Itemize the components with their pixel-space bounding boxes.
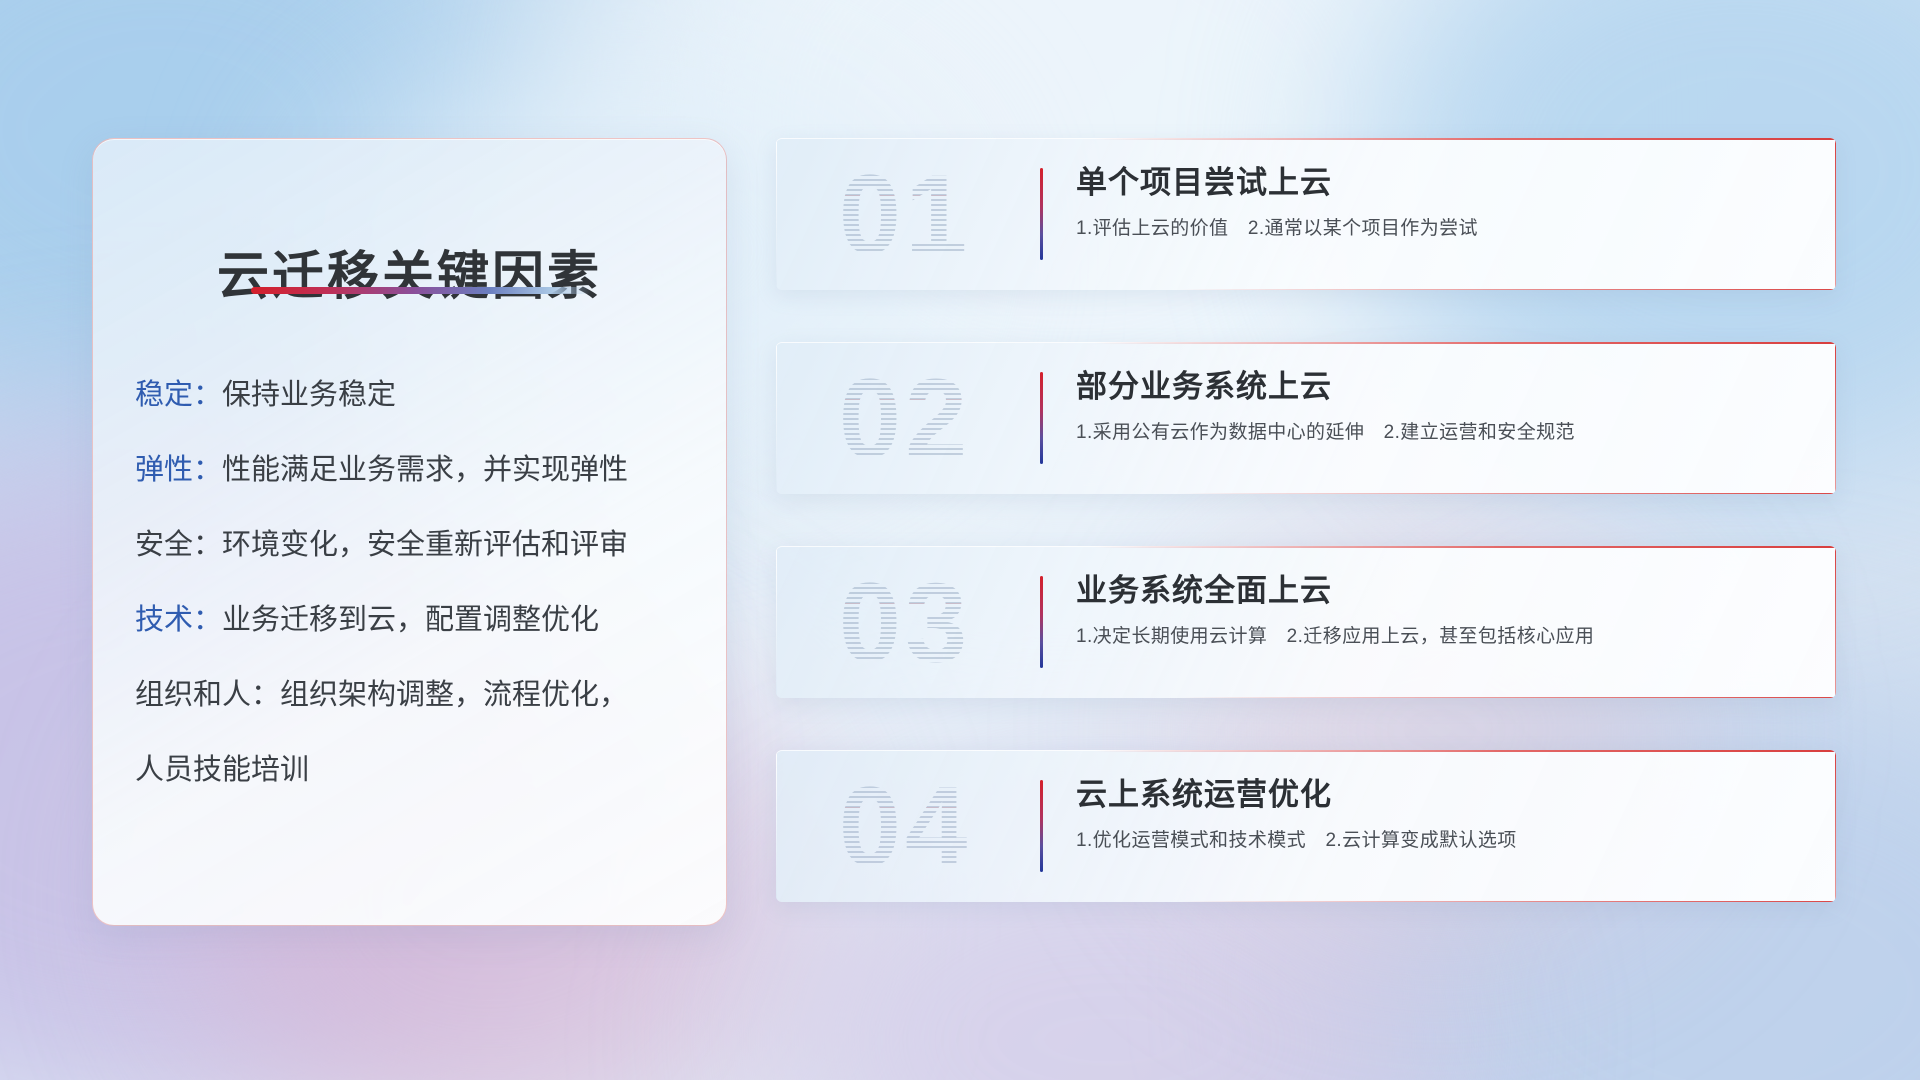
card-title: 单个项目尝试上云	[1076, 164, 1808, 201]
stage-card[interactable]: 01单个项目尝试上云1.评估上云的价值 2.通常以某个项目作为尝试	[776, 138, 1836, 290]
factor-value: 性能满足业务需求，并实现弹性	[222, 454, 628, 486]
card-divider-accent	[1040, 780, 1043, 872]
factor-value: 组织架构调整，流程优化，	[280, 679, 628, 711]
stage-card[interactable]: 03业务系统全面上云1.决定长期使用云计算 2.迁移应用上云，甚至包括核心应用	[776, 546, 1836, 698]
stage-card[interactable]: 04云上系统运营优化1.优化运营模式和技术模式 2.云计算变成默认选项	[776, 750, 1836, 902]
card-accent-border-top	[1094, 342, 1836, 344]
page-title: 云迁移关键因素	[93, 234, 726, 309]
factor-list: 稳定：保持业务稳定弹性：性能满足业务需求，并实现弹性安全：环境变化，安全重新评估…	[135, 381, 698, 785]
card-title: 云上系统运营优化	[1076, 776, 1808, 813]
card-body: 业务系统全面上云1.决定长期使用云计算 2.迁移应用上云，甚至包括核心应用	[1076, 572, 1808, 650]
factor-value: 人员技能培训	[135, 754, 309, 786]
card-body: 部分业务系统上云1.采用公有云作为数据中心的延伸 2.建立运营和安全规范	[1076, 368, 1808, 446]
factor-value: 保持业务稳定	[222, 379, 396, 411]
factor-item: 组织和人：组织架构调整，流程优化，	[135, 681, 698, 710]
card-subtitle: 1.采用公有云作为数据中心的延伸 2.建立运营和安全规范	[1076, 421, 1808, 446]
title-underline-accent	[251, 287, 591, 294]
card-title: 业务系统全面上云	[1076, 572, 1808, 609]
factor-item: 人员技能培训	[135, 756, 698, 785]
card-accent-border-top	[1094, 750, 1836, 752]
factor-item: 弹性：性能满足业务需求，并实现弹性	[135, 456, 698, 485]
card-subtitle: 1.评估上云的价值 2.通常以某个项目作为尝试	[1076, 217, 1808, 242]
card-divider-accent	[1040, 576, 1043, 668]
card-border-left	[776, 342, 777, 494]
factor-label: 稳定：	[135, 379, 222, 411]
card-title: 部分业务系统上云	[1076, 368, 1808, 405]
stage-number-watermark: 01	[800, 138, 1010, 290]
card-divider-accent	[1040, 168, 1043, 260]
card-accent-border-right	[1835, 750, 1837, 902]
card-border-left	[776, 546, 777, 698]
card-accent-border-right	[1835, 546, 1837, 698]
factor-item: 安全：环境变化，安全重新评估和评审	[135, 531, 698, 560]
factor-label: 组织和人：	[135, 679, 280, 711]
factor-label: 技术：	[135, 604, 222, 636]
card-border-left	[776, 138, 777, 290]
card-accent-border-bottom	[1179, 493, 1836, 495]
card-body: 云上系统运营优化1.优化运营模式和技术模式 2.云计算变成默认选项	[1076, 776, 1808, 854]
factor-label: 安全：	[135, 529, 222, 561]
card-subtitle: 1.优化运营模式和技术模式 2.云计算变成默认选项	[1076, 829, 1808, 854]
key-factors-panel: 云迁移关键因素 稳定：保持业务稳定弹性：性能满足业务需求，并实现弹性安全：环境变…	[92, 138, 727, 926]
card-accent-border-right	[1835, 342, 1837, 494]
card-accent-border-bottom	[1179, 289, 1836, 291]
stage-number-watermark: 04	[800, 750, 1010, 902]
migration-stage-card-list: 01单个项目尝试上云1.评估上云的价值 2.通常以某个项目作为尝试02部分业务系…	[776, 138, 1836, 902]
card-body: 单个项目尝试上云1.评估上云的价值 2.通常以某个项目作为尝试	[1076, 164, 1808, 242]
card-subtitle: 1.决定长期使用云计算 2.迁移应用上云，甚至包括核心应用	[1076, 625, 1808, 650]
card-accent-border-bottom	[1179, 901, 1836, 903]
factor-label: 弹性：	[135, 454, 222, 486]
card-border-left	[776, 750, 777, 902]
card-accent-border-right	[1835, 138, 1837, 290]
factor-item: 稳定：保持业务稳定	[135, 381, 698, 410]
stage-number-watermark: 03	[800, 546, 1010, 698]
card-divider-accent	[1040, 372, 1043, 464]
card-accent-border-bottom	[1179, 697, 1836, 699]
stage-number-watermark: 02	[800, 342, 1010, 494]
factor-value: 业务迁移到云，配置调整优化	[222, 604, 599, 636]
factor-item: 技术：业务迁移到云，配置调整优化	[135, 606, 698, 635]
card-accent-border-top	[1094, 546, 1836, 548]
factor-value: 环境变化，安全重新评估和评审	[222, 529, 628, 561]
stage-card[interactable]: 02部分业务系统上云1.采用公有云作为数据中心的延伸 2.建立运营和安全规范	[776, 342, 1836, 494]
card-accent-border-top	[1094, 138, 1836, 140]
